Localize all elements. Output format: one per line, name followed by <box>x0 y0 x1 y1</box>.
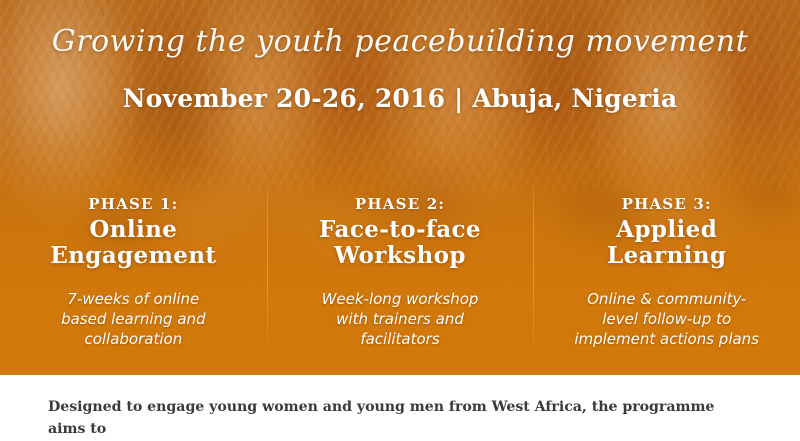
phase-2-title-line-1: Face-to-face <box>281 217 520 243</box>
phase-2-title: Face-to-face Workshop <box>281 217 520 269</box>
event-date-location: November 20-26, 2016 | Abuja, Nigeria <box>0 84 800 113</box>
phase-3-label: PHASE 3: <box>547 196 786 213</box>
phase-2-desc-line-2: with trainers and <box>281 309 520 329</box>
phase-column-2: PHASE 2: Face-to-face Workshop Week-long… <box>267 196 534 364</box>
phase-3-desc-line-1: Online & community- <box>547 289 786 309</box>
programme-description-line-1: Designed to engage young women and young… <box>48 397 752 440</box>
phase-3-title-line-2: Learning <box>547 243 786 269</box>
phase-1-title: Online Engagement <box>14 217 253 269</box>
phase-2-label: PHASE 2: <box>281 196 520 213</box>
phase-1-description: 7-weeks of online based learning and col… <box>14 289 253 350</box>
phase-2-desc-line-1: Week-long workshop <box>281 289 520 309</box>
phase-columns: PHASE 1: Online Engagement 7-weeks of on… <box>0 196 800 364</box>
phase-3-title: Applied Learning <box>547 217 786 269</box>
programme-description: Designed to engage young women and young… <box>0 375 800 441</box>
phase-3-desc-line-3: implement actions plans <box>547 329 786 349</box>
phase-1-title-line-2: Engagement <box>14 243 253 269</box>
phase-1-desc-line-2: based learning and <box>14 309 253 329</box>
phase-2-desc-line-3: facilitators <box>281 329 520 349</box>
promo-banner-page: Growing the youth peacebuilding movement… <box>0 0 800 441</box>
phase-3-desc-line-2: level follow-up to <box>547 309 786 329</box>
phase-2-title-line-2: Workshop <box>281 243 520 269</box>
phase-column-3: PHASE 3: Applied Learning Online & commu… <box>533 196 800 364</box>
hero-banner: Growing the youth peacebuilding movement… <box>0 0 800 375</box>
page-title: Growing the youth peacebuilding movement <box>0 24 800 59</box>
phase-1-desc-line-1: 7-weeks of online <box>14 289 253 309</box>
phase-3-title-line-1: Applied <box>547 217 786 243</box>
phase-2-description: Week-long workshop with trainers and fac… <box>281 289 520 350</box>
phase-1-title-line-1: Online <box>14 217 253 243</box>
phase-1-desc-line-3: collaboration <box>14 329 253 349</box>
phase-column-1: PHASE 1: Online Engagement 7-weeks of on… <box>0 196 267 364</box>
phase-3-description: Online & community- level follow-up to i… <box>547 289 786 350</box>
phase-1-label: PHASE 1: <box>14 196 253 213</box>
